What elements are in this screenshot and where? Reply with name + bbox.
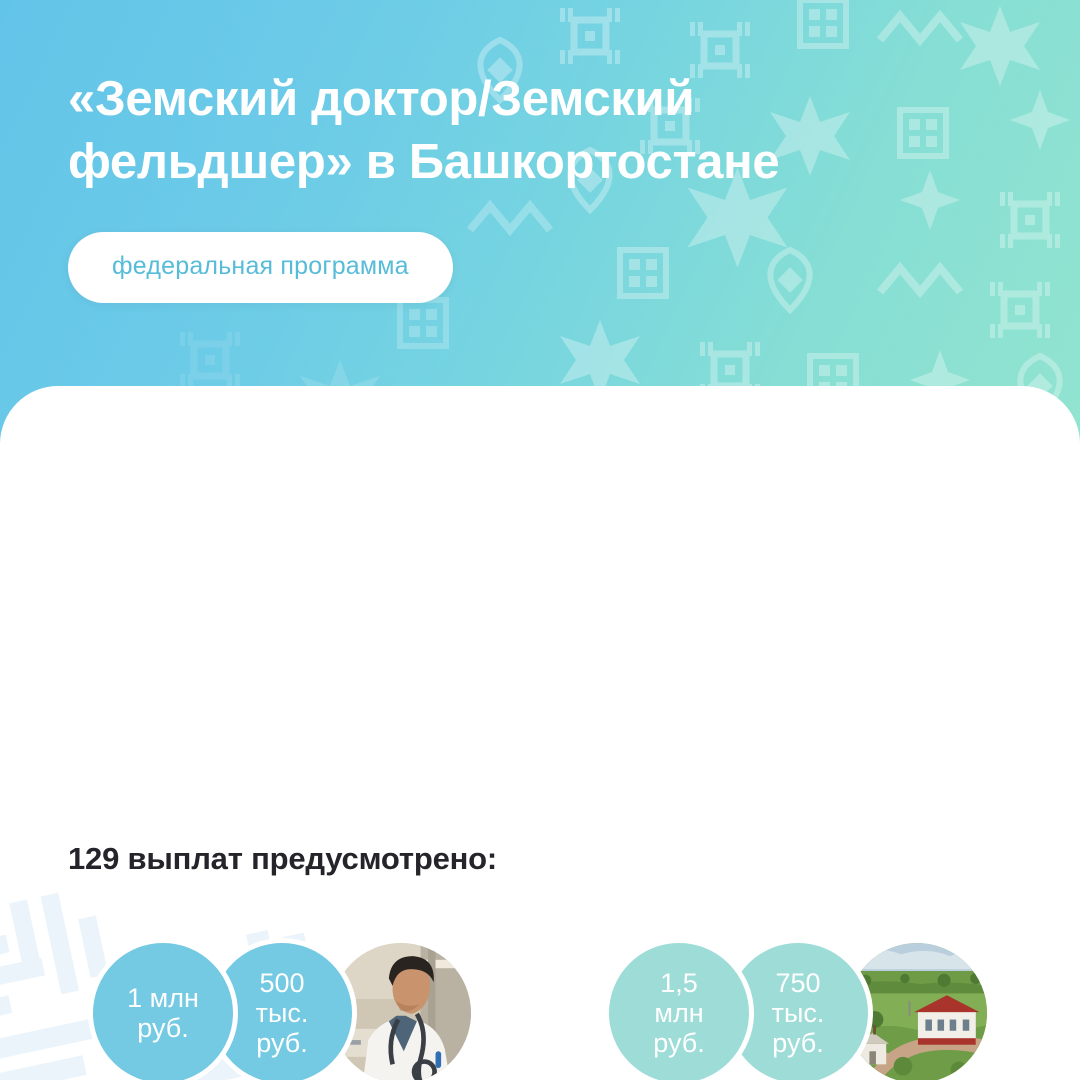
infographic-poster: «Земский доктор/Земский фельдшер» в Башк… [0, 0, 1080, 1080]
content-card: 129 выплат предусмотрено: 1 млн руб. 500… [0, 386, 1080, 1080]
amount-circle-1mln: 1 млн руб. [88, 938, 238, 1080]
amount-circle-15mln: 1,5 млн руб. [604, 938, 754, 1080]
program-type-badge: федеральная программа [68, 232, 453, 303]
page-title: «Земский доктор/Земский фельдшер» в Башк… [68, 68, 918, 193]
payments-headline: 129 выплат предусмотрено: [68, 841, 497, 877]
